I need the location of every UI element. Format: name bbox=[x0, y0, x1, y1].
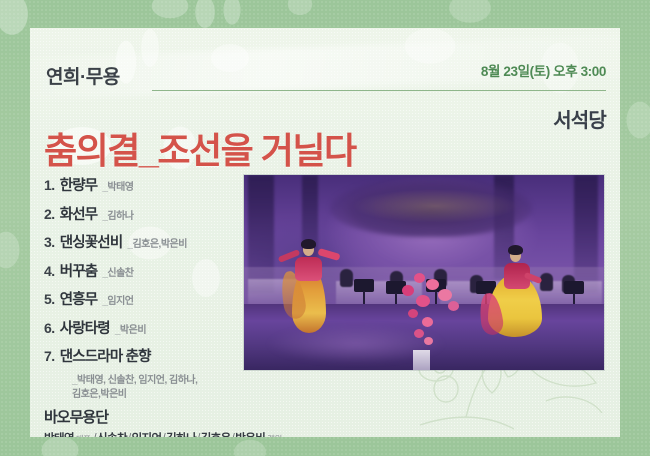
poster-root: 연희·무용 8월 23일(토) 오후 3:00 춤의결_조선을 거닐다 서석당 … bbox=[0, 0, 650, 456]
poster-inner-panel: 연희·무용 8월 23일(토) 오후 3:00 춤의결_조선을 거닐다 서석당 … bbox=[30, 28, 620, 437]
member-name: 박태영 bbox=[44, 433, 74, 437]
program-cast: _김하나 bbox=[102, 207, 133, 222]
list-item: 4. 버꾸춤 _신솔찬 bbox=[44, 260, 264, 281]
roster-separator: / bbox=[93, 433, 96, 437]
program-number: 7. bbox=[44, 348, 55, 364]
photo-grain-texture bbox=[244, 175, 604, 370]
roster-separator: / bbox=[197, 433, 200, 437]
header-divider bbox=[152, 90, 606, 91]
performance-date: 8월 23일(토) 오후 3:00 bbox=[481, 60, 606, 80]
program-cast: _임지언 bbox=[102, 292, 133, 307]
program-number: 2. bbox=[44, 206, 55, 222]
member-name: 박은비 bbox=[235, 433, 265, 437]
company-name: 바오무용단 bbox=[44, 406, 284, 427]
program-number: 6. bbox=[44, 320, 55, 336]
company-roster: 박태영대표/신솔찬/임지언/김하나/김호은/박은비객원 bbox=[44, 430, 284, 437]
program-cast: _박은비 bbox=[115, 321, 146, 336]
list-item: 1. 한량무 _박태영 bbox=[44, 174, 264, 195]
roster-separator: / bbox=[232, 433, 235, 437]
list-item: 7. 댄스드라마 춘향 bbox=[44, 345, 264, 366]
program-title: 댄싱꽃선비 bbox=[60, 231, 123, 252]
member-role: 객원 bbox=[267, 434, 281, 437]
program-number: 4. bbox=[44, 263, 55, 279]
venue-name: 서석당 bbox=[553, 104, 606, 133]
member-name: 김하나 bbox=[166, 433, 196, 437]
program-title: 댄스드라마 춘향 bbox=[60, 345, 151, 366]
program-number: 1. bbox=[44, 177, 55, 193]
list-item: 5. 연흥무 _임지언 bbox=[44, 288, 264, 309]
roster-separator: / bbox=[128, 433, 131, 437]
program-list: 1. 한량무 _박태영 2. 화선무 _김하나 3. 댄싱꽃선비 _김호은,박은… bbox=[44, 174, 264, 403]
program-cast: _김호은,박은비 bbox=[127, 235, 187, 250]
list-item: 3. 댄싱꽃선비 _김호은,박은비 bbox=[44, 231, 264, 252]
program-number: 5. bbox=[44, 291, 55, 307]
member-name: 신솔찬 bbox=[97, 433, 127, 437]
member-role: 대표 bbox=[76, 434, 90, 437]
program-cast: _신솔찬 bbox=[102, 264, 133, 279]
stage-performance-photo bbox=[244, 175, 604, 370]
poster-header: 연희·무용 8월 23일(토) 오후 3:00 bbox=[46, 50, 606, 108]
program-title: 화선무 bbox=[60, 203, 98, 224]
company-credits: 바오무용단 박태영대표/신솔찬/임지언/김하나/김호은/박은비객원 bbox=[44, 406, 284, 437]
roster-separator: / bbox=[163, 433, 166, 437]
program-cast-block: _박태영, 신솔찬, 임지언, 김하나, 김호은,박은비 bbox=[72, 374, 264, 403]
program-number: 3. bbox=[44, 234, 55, 250]
member-name: 김호은 bbox=[201, 433, 231, 437]
list-item: 6. 사랑타령 _박은비 bbox=[44, 317, 264, 338]
program-title: 연흥무 bbox=[60, 288, 98, 309]
member-name: 임지언 bbox=[132, 433, 162, 437]
program-title: 버꾸춤 bbox=[60, 260, 98, 281]
list-item: 2. 화선무 _김하나 bbox=[44, 203, 264, 224]
program-cast: _박태영 bbox=[102, 178, 133, 193]
category-kicker: 연희·무용 bbox=[46, 62, 120, 89]
page-title: 춤의결_조선을 거닐다 bbox=[44, 122, 356, 174]
program-title: 사랑타령 bbox=[60, 317, 110, 338]
program-title: 한량무 bbox=[60, 174, 98, 195]
